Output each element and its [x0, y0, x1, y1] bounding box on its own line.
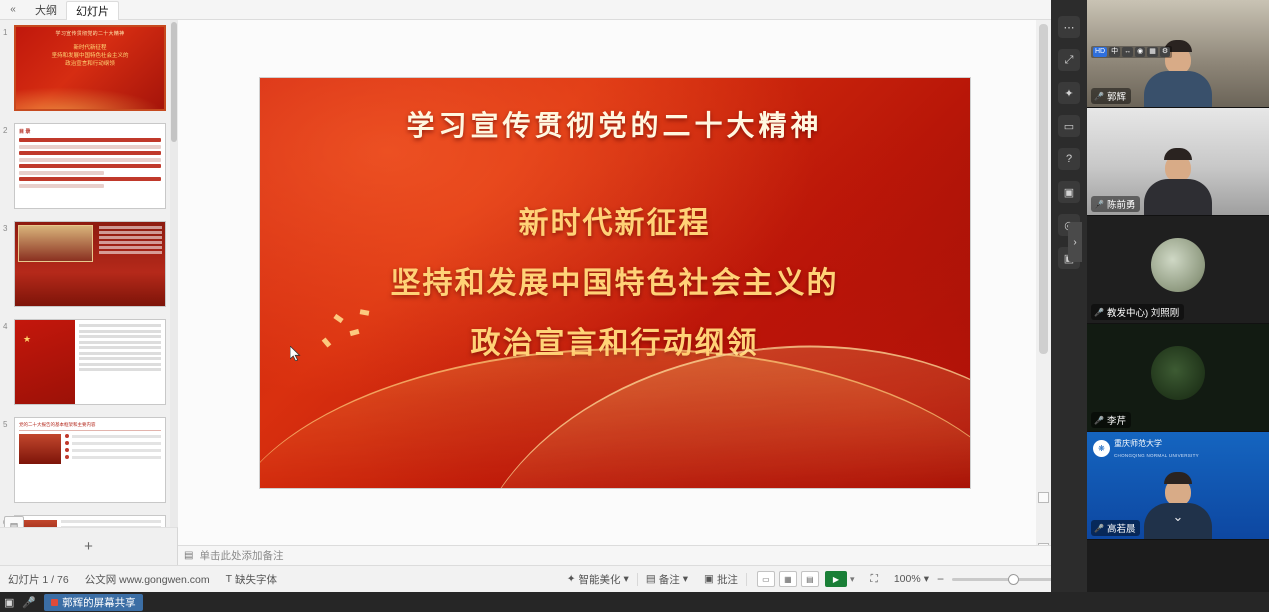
notes-icon: ▤	[184, 550, 193, 561]
slide-number: 3	[3, 224, 7, 233]
view-sorter-button[interactable]: ▦	[779, 571, 797, 587]
status-bar-right: ✦ 智能美化 ▾ ▤ 备注 ▾ ▣ 批注 ▭ ▦ ▤	[559, 571, 1085, 587]
thumb-red-block: ★	[15, 320, 75, 404]
participant-tile[interactable]: 🎤 李芹	[1087, 324, 1269, 432]
font-warning-label: 缺失字体	[235, 572, 277, 587]
badge-hd: HD	[1093, 47, 1107, 57]
slide-thumb-1[interactable]: 学习宣传贯彻党的二十大精神 新时代新征程 坚持和发展中国特色社会主义的 政治宣言…	[14, 25, 166, 111]
sparkle-icon: ✦	[567, 573, 576, 585]
view-reading-button[interactable]: ▤	[801, 571, 819, 587]
slide-thumbnail-panel[interactable]: 1 学习宣传贯彻党的二十大精神 新时代新征程 坚持和发展中国特色社会主义的 政治…	[0, 20, 178, 545]
thumb-line	[19, 164, 161, 168]
camera-switch-icon[interactable]: ▣	[1058, 181, 1080, 203]
slide-thumbnail-item[interactable]: 3	[0, 216, 178, 314]
expand-view-icon[interactable]: ⤢	[1058, 49, 1080, 71]
thumb-line	[19, 158, 161, 162]
university-names: 重庆师范大学 CHONGQING NORMAL UNIVERSITY	[1114, 437, 1199, 460]
participant-tile[interactable]: 🎤 教发中心) 刘照刚	[1087, 216, 1269, 324]
hair-shape	[1164, 472, 1192, 484]
participant-name-chip: 🎤 教发中心) 刘照刚	[1091, 304, 1184, 320]
zoom-slider-knob[interactable]	[1008, 574, 1019, 585]
participant-tile[interactable]: 🎤 陈前勇	[1087, 108, 1269, 216]
participant-video-list: HD 中 ↔ ◉ ▦ ⚙ 🎤 郭辉 🎤 陈前勇	[1087, 0, 1269, 592]
canvas-side-rail[interactable]	[1036, 20, 1051, 545]
thumb-heading: 目 录	[19, 128, 161, 135]
mic-icon: 🎤	[1094, 308, 1104, 317]
participant-name: 李芹	[1107, 413, 1126, 427]
slide-canvas-area[interactable]: 学习宣传贯彻党的二十大精神 新时代新征程 坚持和发展中国特色社会主义的 政治宣言…	[178, 20, 1051, 545]
slideshow-dropdown-icon[interactable]: ▾	[850, 574, 855, 585]
bullet-icon	[65, 434, 69, 438]
thumb-outline-slide: 目 录	[15, 124, 165, 208]
university-name-en: CHONGQING NORMAL UNIVERSITY	[1114, 453, 1199, 458]
mic-icon[interactable]: 🎤	[22, 596, 36, 609]
thumb-red-split-slide: ★	[15, 320, 165, 404]
participant-tile[interactable]: ❋ 重庆师范大学 CHONGQING NORMAL UNIVERSITY ⌄ 🎤…	[1087, 432, 1269, 540]
zoom-out-button[interactable]: −	[937, 572, 944, 586]
thumbnail-panel-scrollbar[interactable]	[170, 20, 178, 545]
thumb-heading: 党的二十大报告的基本框架和主要内容	[19, 422, 161, 431]
chevron-down-icon[interactable]: ▾	[683, 573, 688, 585]
more-options-icon[interactable]: ⋯	[1058, 16, 1080, 38]
hair-shape	[1164, 148, 1192, 160]
badge-resize: ↔	[1122, 47, 1133, 57]
smart-beautify-label: 智能美化	[579, 572, 621, 587]
slide-number: 2	[3, 126, 7, 135]
slide-thumb-4[interactable]: ★	[14, 319, 166, 405]
slide-thumb-5[interactable]: 党的二十大报告的基本框架和主要内容	[14, 417, 166, 503]
participant-name-chip: 🎤 陈前勇	[1091, 196, 1140, 212]
font-warning[interactable]: T 缺失字体	[218, 572, 285, 587]
tile-badge-row[interactable]: HD 中 ↔ ◉ ▦ ⚙	[1091, 46, 1172, 58]
chat-icon[interactable]: ▭	[1058, 115, 1080, 137]
start-slideshow-button[interactable]: ▶	[825, 571, 847, 587]
participant-name: 高若晨	[1107, 521, 1136, 535]
slide-number: 1	[3, 28, 7, 37]
notes-placeholder[interactable]: 单击此处添加备注	[199, 548, 283, 563]
participant-tile[interactable]: HD 中 ↔ ◉ ▦ ⚙ 🎤 郭辉	[1087, 0, 1269, 108]
participant-name-chip: 🎤 郭辉	[1091, 88, 1131, 104]
share-indicator-icon	[51, 599, 58, 606]
thumb-line	[19, 145, 161, 149]
comment-icon: ▣	[704, 573, 714, 585]
chevron-down-icon[interactable]: ▾	[924, 573, 929, 585]
thumb-list-row	[61, 520, 161, 523]
notes-button[interactable]: ▤ 备注 ▾	[638, 572, 696, 587]
thumb-list-slide: 党的二十大报告的基本框架和主要内容	[15, 418, 165, 502]
badge-settings: ⚙	[1160, 47, 1170, 57]
mic-icon: 🎤	[1094, 416, 1104, 425]
bullet-icon	[65, 455, 69, 459]
thumb-list-row	[65, 434, 161, 438]
slide-line-1[interactable]: 新时代新征程	[260, 198, 970, 242]
badge-lang: 中	[1109, 47, 1120, 57]
torso-shape	[1144, 71, 1212, 107]
thumb-image	[18, 225, 93, 262]
thumb-wave-decoration	[16, 87, 164, 109]
meeting-toolbar-rail: ⋯ ⤢ ✦ ▭ ? ▣ ◎ ▣	[1051, 0, 1087, 592]
speaker-icon[interactable]: ▣	[4, 596, 14, 609]
slide-count-label: 幻灯片 1 / 76	[0, 572, 77, 587]
mic-icon: 🎤	[1094, 524, 1104, 533]
thumb-heading: 学习宣传贯彻党的二十大精神	[16, 27, 164, 37]
notes-label: 备注	[659, 572, 680, 587]
thumb-list-row	[65, 455, 161, 459]
comment-label: 批注	[717, 572, 738, 587]
zoom-slider[interactable]	[952, 578, 1060, 581]
torso-shape	[1144, 179, 1212, 215]
avatar	[1151, 346, 1205, 400]
mic-icon: 🎤	[1094, 92, 1104, 101]
panel-tab-strip: « 大纲 幻灯片	[0, 0, 1085, 20]
star-icon: ★	[23, 334, 31, 345]
thumb-text-block	[75, 320, 165, 404]
mouse-cursor-icon	[290, 346, 301, 361]
slide-thumb-3[interactable]	[14, 221, 166, 307]
bullet-icon	[65, 441, 69, 445]
slide-thumb-2[interactable]: 目 录	[14, 123, 166, 209]
thumb-line-1: 新时代新征程	[16, 44, 164, 52]
thumb-line	[19, 138, 161, 142]
canvas-scrollbar-thumb[interactable]	[1039, 24, 1048, 354]
zoom-level-label[interactable]: 100% ▾	[886, 573, 937, 585]
rail-button-top[interactable]	[1038, 492, 1049, 503]
thumb-text-block	[99, 226, 162, 256]
thumb-image	[19, 434, 61, 464]
add-slide-icon[interactable]: +	[84, 538, 93, 555]
screen-share-label: 郭辉的屏幕共享	[62, 595, 136, 610]
bullet-icon	[65, 448, 69, 452]
participant-name-chip: 🎤 高若晨	[1091, 520, 1140, 536]
thumb-body: 新时代新征程 坚持和发展中国特色社会主义的 政治宣言和行动纲领	[16, 37, 164, 68]
thumb-photo-slide	[15, 222, 165, 306]
fit-to-window-button[interactable]: ⛶	[862, 573, 885, 586]
thumb-line	[19, 184, 104, 188]
star-icon[interactable]: ✦	[1058, 82, 1080, 104]
screen-root: « 大纲 幻灯片 1 学习宣传贯彻党的二十大精神 新时代新征程 坚持和发展中国特…	[0, 0, 1269, 612]
notes-icon: ▤	[646, 573, 656, 585]
thumb-line	[19, 177, 161, 181]
tab-slides[interactable]: 幻灯片	[66, 1, 119, 20]
add-slide-bar[interactable]: +	[0, 527, 178, 565]
font-warning-icon: T	[226, 573, 232, 585]
thumb-line-3: 政治宣言和行动纲领	[16, 60, 164, 68]
notes-pane[interactable]: ▤ 单击此处添加备注	[178, 545, 1051, 565]
smart-beautify-button[interactable]: ✦ 智能美化 ▾	[559, 572, 637, 587]
confetti-icon	[359, 309, 369, 315]
slide-thumbnail-item[interactable]: 4 ★	[0, 314, 178, 412]
thumb-title-slide: 学习宣传贯彻党的二十大精神 新时代新征程 坚持和发展中国特色社会主义的 政治宣言…	[16, 27, 164, 109]
person-silhouette	[1144, 148, 1212, 215]
person-silhouette	[1144, 472, 1212, 539]
slide-thumbnail-item[interactable]: 1 学习宣传贯彻党的二十大精神 新时代新征程 坚持和发展中国特色社会主义的 政治…	[0, 20, 178, 118]
current-slide[interactable]: 学习宣传贯彻党的二十大精神 新时代新征程 坚持和发展中国特色社会主义的 政治宣言…	[260, 78, 970, 488]
participant-name-chip: 🎤 李芹	[1091, 412, 1131, 428]
thumb-line	[19, 151, 161, 155]
screen-share-taskbar-item[interactable]: 郭辉的屏幕共享	[44, 594, 143, 611]
university-name-cn: 重庆师范大学	[1114, 439, 1162, 448]
avatar	[1151, 238, 1205, 292]
view-normal-button[interactable]: ▭	[757, 571, 775, 587]
participant-name: 陈前勇	[1107, 197, 1136, 211]
slide-thumbnail-item[interactable]: 2 目 录	[0, 118, 178, 216]
scrollbar-thumb[interactable]	[171, 22, 177, 142]
thumb-list-row	[65, 448, 161, 452]
chevron-down-icon[interactable]: ▾	[624, 573, 629, 585]
university-seal-icon: ❋	[1093, 440, 1110, 457]
view-mode-buttons[interactable]: ▭ ▦ ▤ ▶ ▾	[747, 571, 863, 587]
status-bar: 幻灯片 1 / 76 公文网 www.gongwen.com T 缺失字体 ✦ …	[0, 565, 1085, 592]
participant-name: 教发中心) 刘照刚	[1107, 305, 1179, 319]
sidebar-collapse-handle[interactable]: ›	[1068, 222, 1082, 262]
badge-grid: ▦	[1147, 47, 1158, 57]
slide-number: 4	[3, 322, 7, 331]
mic-icon: 🎤	[1094, 200, 1104, 209]
thumb-line	[19, 171, 104, 175]
badge-record: ◉	[1135, 47, 1145, 57]
chevron-down-icon[interactable]: ⌄	[1173, 509, 1184, 525]
participant-name: 郭辉	[1107, 89, 1126, 103]
collapse-panel-icon[interactable]: «	[0, 0, 26, 19]
site-label: 公文网 www.gongwen.com	[77, 572, 218, 587]
help-icon[interactable]: ?	[1058, 148, 1080, 170]
thumb-line-2: 坚持和发展中国特色社会主义的	[16, 52, 164, 60]
slide-line-2[interactable]: 坚持和发展中国特色社会主义的	[260, 258, 970, 302]
comment-button[interactable]: ▣ 批注	[696, 572, 746, 587]
slide-number: 5	[3, 420, 7, 429]
university-logo: ❋ 重庆师范大学 CHONGQING NORMAL UNIVERSITY	[1093, 437, 1199, 460]
zoom-value: 100%	[894, 573, 921, 585]
slide-thumbnail-item[interactable]: 5 党的二十大报告的基本框架和主要内容	[0, 412, 178, 510]
slide-heading[interactable]: 学习宣传贯彻党的二十大精神	[260, 104, 970, 144]
presentation-app: « 大纲 幻灯片 1 学习宣传贯彻党的二十大精神 新时代新征程 坚持和发展中国特…	[0, 0, 1085, 592]
taskbar: ▣ 🎤 郭辉的屏幕共享	[0, 592, 1269, 612]
tab-outline[interactable]: 大纲	[26, 1, 66, 20]
thumb-list-row	[65, 441, 161, 445]
